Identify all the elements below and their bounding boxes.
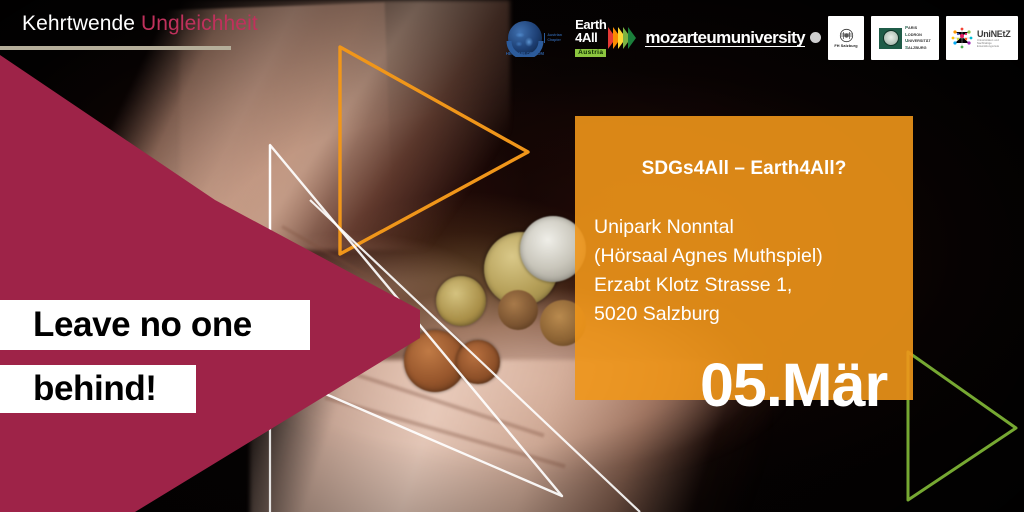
event-address: Unipark Nonntal (Hörsaal Agnes Muthspiel… — [594, 213, 823, 329]
plus-line3: UNIVERSITÄT — [905, 38, 931, 45]
logo-earth4all[interactable]: Earth 4All Austria — [575, 15, 638, 61]
chapter-line2: Chapter — [547, 38, 562, 43]
event-date: 05.Mär — [700, 355, 887, 416]
mozarteum-line1: mozarteum — [645, 29, 730, 47]
uninetz-wordmark: UniNEtZ Universitäten und Nachhaltige En… — [977, 29, 1014, 48]
slogan-line-1: Leave no one — [0, 300, 310, 350]
poster-kicker: Kehrtwende Ungleichheit — [22, 12, 258, 36]
club-of-rome-arc-icon: THE CLUB OF ROME — [506, 19, 544, 57]
globe-icon: THE CLUB OF ROME — [508, 21, 542, 55]
logo-paris-lodron-university[interactable]: PARIS LODRON UNIVERSITÄT SALZBURG — [871, 16, 939, 60]
event-poster: Kehrtwende Ungleichheit THE CLUB OF ROME… — [0, 0, 1024, 512]
uninetz-title: UniNEtZ — [977, 29, 1014, 39]
logo-mozarteum-university[interactable]: mozarteum university — [645, 15, 821, 61]
mozarteum-line2: university — [731, 29, 805, 47]
uninetz-subtitle: Universitäten und Nachhaltige Entwicklun… — [977, 39, 1014, 48]
earth4all-line2: 4All — [575, 32, 606, 44]
orange-triangle-outline — [340, 47, 528, 254]
event-title: SDGs4All – Earth4All? — [575, 158, 913, 180]
partner-logo-strip: THE CLUB OF ROME Austrian Chapter Earth … — [502, 14, 1018, 62]
uninetz-network-icon — [950, 27, 974, 49]
plus-seal-icon — [879, 28, 902, 49]
earth4all-country: Austria — [575, 49, 606, 56]
logo-fh-salzburg[interactable]: FH Salzburg — [828, 16, 864, 60]
plus-line4: SALZBURG — [905, 45, 931, 52]
plus-wordmark: PARIS LODRON UNIVERSITÄT SALZBURG — [905, 25, 931, 51]
fh-salzburg-crest-icon — [838, 28, 855, 43]
logo-club-of-rome[interactable]: THE CLUB OF ROME Austrian Chapter — [502, 15, 568, 61]
plus-seal-medallion — [883, 30, 899, 46]
club-of-rome-chapter-tag: Austrian Chapter — [544, 33, 562, 43]
mozarteum-dot-icon — [810, 32, 821, 43]
earth4all-wordmark: Earth 4All Austria — [575, 19, 606, 56]
slogan-line-2: behind! — [0, 365, 196, 413]
kicker-part2: Ungleichheit — [141, 12, 258, 35]
logo-uninetz[interactable]: UniNEtZ Universitäten und Nachhaltige En… — [946, 16, 1018, 60]
rainbow-chevron-icon — [608, 23, 638, 53]
fh-salzburg-label: FH Salzburg — [834, 44, 857, 48]
kicker-underline-rule — [0, 46, 231, 50]
green-triangle-outline — [908, 352, 1016, 500]
svg-text:THE CLUB OF ROME: THE CLUB OF ROME — [506, 51, 544, 56]
kicker-part1: Kehrtwende — [22, 12, 141, 35]
